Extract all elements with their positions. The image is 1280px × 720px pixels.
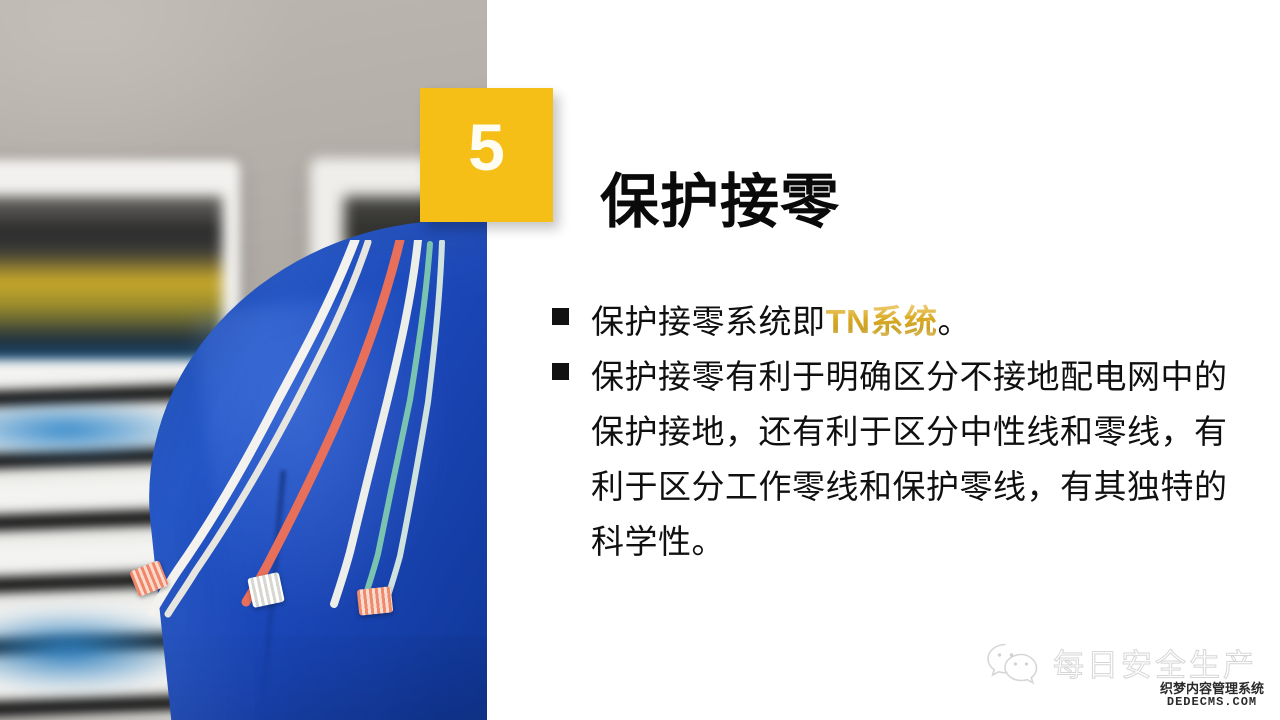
wechat-icon <box>985 641 1043 685</box>
bullet-item: 保护接零系统即TN系统。 <box>552 294 1242 349</box>
bullet-segment-highlight: TN系统 <box>826 303 938 340</box>
section-number: 5 <box>468 114 505 180</box>
bullet-square-icon <box>552 308 569 325</box>
bullet-square-icon <box>552 363 569 380</box>
bullet-list: 保护接零系统即TN系统。 保护接零有利于明确区分不接地配电网中的保护接地，还有利… <box>552 294 1242 569</box>
dedecms-label-en: DEDECMS.COM <box>1160 696 1264 709</box>
bullet-item: 保护接零有利于明确区分不接地配电网中的保护接地，还有利于区分中性线和零线，有利于… <box>552 349 1242 569</box>
photo-connector-orange-right <box>357 586 394 615</box>
bullet-segment-plain-1: 保护接零系统即 <box>591 303 826 340</box>
wechat-watermark: 每日安全生产 <box>985 640 1257 685</box>
section-number-badge: 5 <box>420 88 553 222</box>
bullet-text: 保护接零系统即TN系统。 <box>591 294 971 349</box>
wechat-account-name: 每日安全生产 <box>1053 640 1257 685</box>
dedecms-label-cn: 织梦内容管理系统 <box>1160 682 1264 696</box>
slide-title: 保护接零 <box>600 154 840 239</box>
slide-photo <box>0 0 487 720</box>
bullet-text: 保护接零有利于明确区分不接地配电网中的保护接地，还有利于区分中性线和零线，有利于… <box>591 349 1242 569</box>
dedecms-watermark: 织梦内容管理系统 DEDECMS.COM <box>1160 682 1264 708</box>
presentation-slide: 5 保护接零 保护接零系统即TN系统。 保护接零有利于明确区分不接地配电网中的保… <box>0 0 1280 720</box>
bullet-segment-plain-2: 。 <box>938 303 972 340</box>
